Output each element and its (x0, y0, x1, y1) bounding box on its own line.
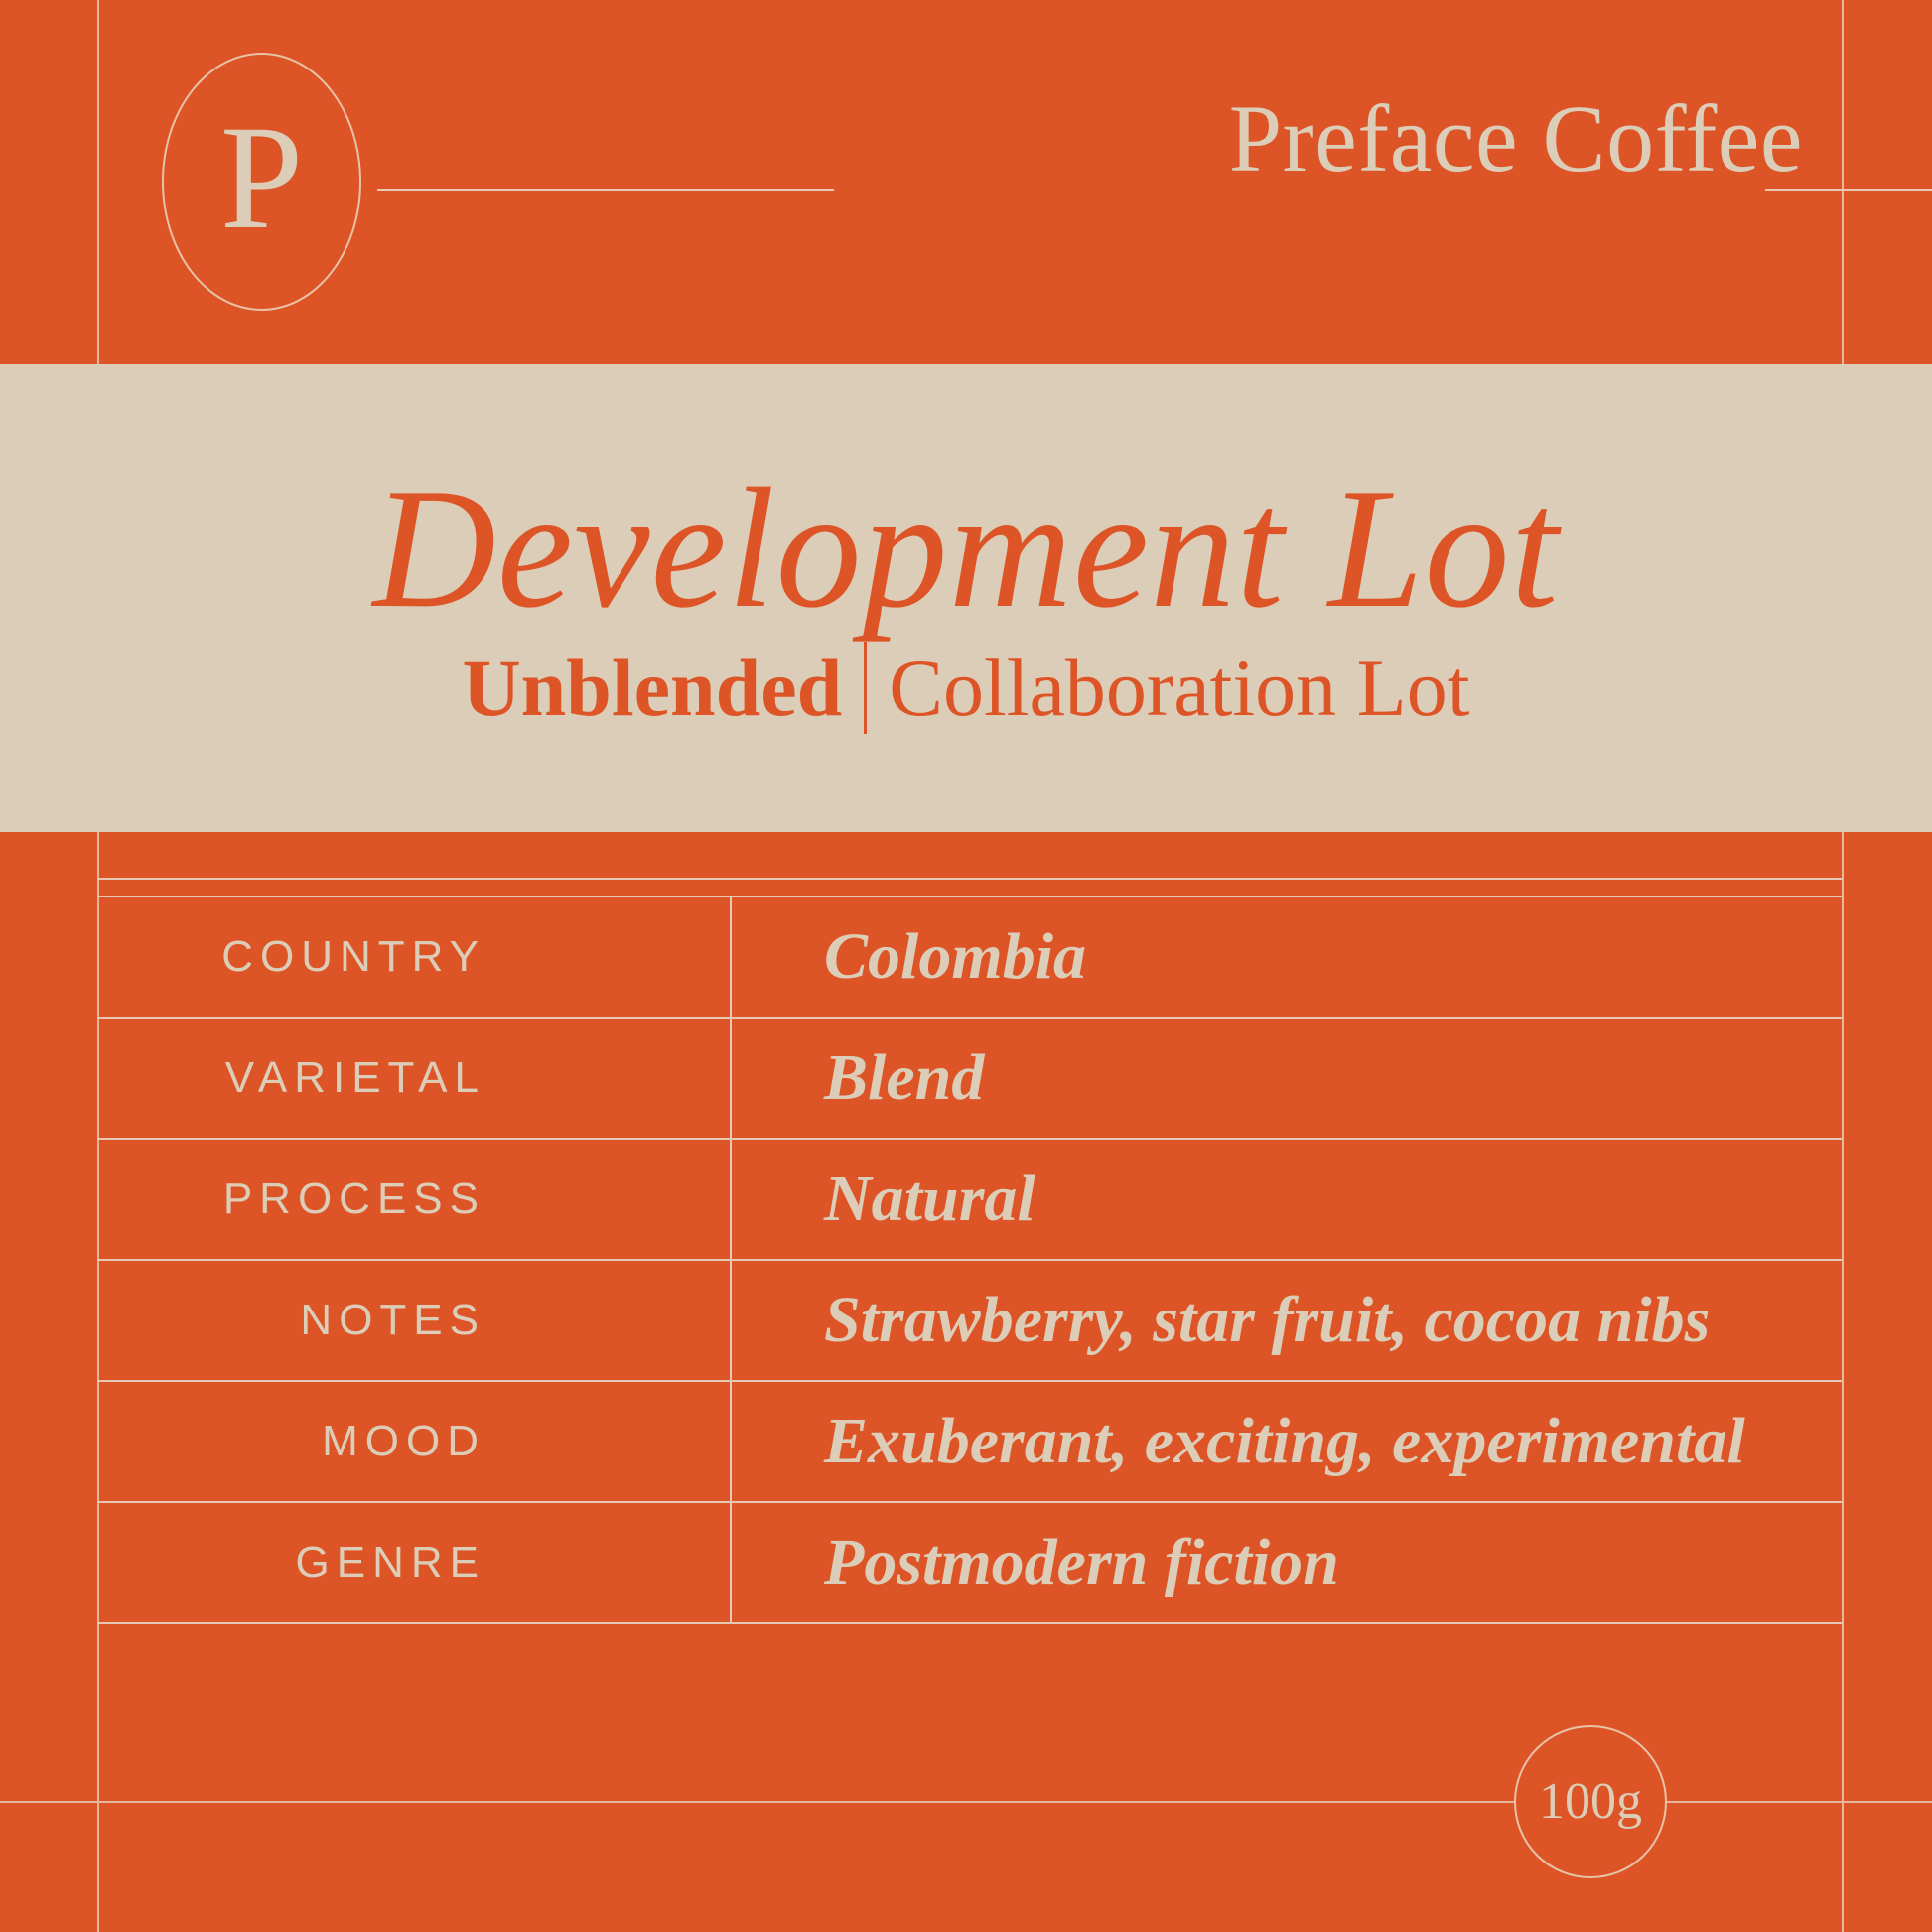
table-row: MOOD Exuberant, exciting, experimental (97, 1380, 1842, 1501)
label-header: P Preface Coffee (0, 0, 1932, 364)
table-row: PROCESS Natural (97, 1138, 1842, 1259)
spec-value: Natural (730, 1167, 1842, 1232)
weight-badge: 100g (1514, 1725, 1667, 1878)
spec-column-divider (730, 1140, 732, 1259)
spec-label: PROCESS (97, 1174, 730, 1224)
header-rule-left (377, 189, 834, 191)
spec-label: NOTES (97, 1296, 730, 1345)
spec-value: Postmodern fiction (730, 1530, 1842, 1595)
table-row: NOTES Strawberry, star fruit, cocoa nibs (97, 1259, 1842, 1380)
coffee-label-canvas: P Preface Coffee Development Lot Unblend… (0, 0, 1932, 1932)
table-row: GENRE Postmodern fiction (97, 1501, 1842, 1624)
brand-logo-ellipse-icon: P (162, 53, 361, 311)
spec-column-divider (730, 1503, 732, 1622)
spec-label: GENRE (97, 1538, 730, 1587)
product-subtitle-rest: Collaboration Lot (889, 647, 1469, 729)
product-title-band: Development Lot Unblended Collaboration … (0, 364, 1932, 832)
weight-badge-value: 100g (1539, 1776, 1642, 1828)
product-subtitle-divider-icon (864, 642, 867, 734)
spec-value: Strawberry, star fruit, cocoa nibs (730, 1288, 1842, 1353)
spec-label: MOOD (97, 1417, 730, 1466)
spec-column-divider (730, 1019, 732, 1138)
grid-line-vertical-right-lower (1842, 832, 1844, 1932)
table-row: VARIETAL Blend (97, 1017, 1842, 1138)
spec-value: Colombia (730, 924, 1842, 990)
table-row: COUNTRY Colombia (97, 896, 1842, 1017)
spec-column-divider (730, 897, 732, 1017)
brand-name: Preface Coffee (1229, 91, 1803, 187)
spec-label: VARIETAL (97, 1053, 730, 1103)
product-subtitle: Unblended Collaboration Lot (462, 642, 1469, 734)
spec-column-divider (730, 1382, 732, 1501)
product-subtitle-strong: Unblended (462, 647, 842, 729)
spec-value: Exuberant, exciting, experimental (730, 1409, 1842, 1474)
spec-value: Blend (730, 1045, 1842, 1111)
product-title: Development Lot (373, 464, 1560, 634)
brand-logo-letter: P (220, 103, 303, 252)
spec-table: COUNTRY Colombia VARIETAL Blend PROCESS … (97, 878, 1842, 1624)
spec-column-divider (730, 1261, 732, 1380)
spec-label: COUNTRY (97, 932, 730, 982)
spec-table-header-strip (97, 880, 1842, 896)
